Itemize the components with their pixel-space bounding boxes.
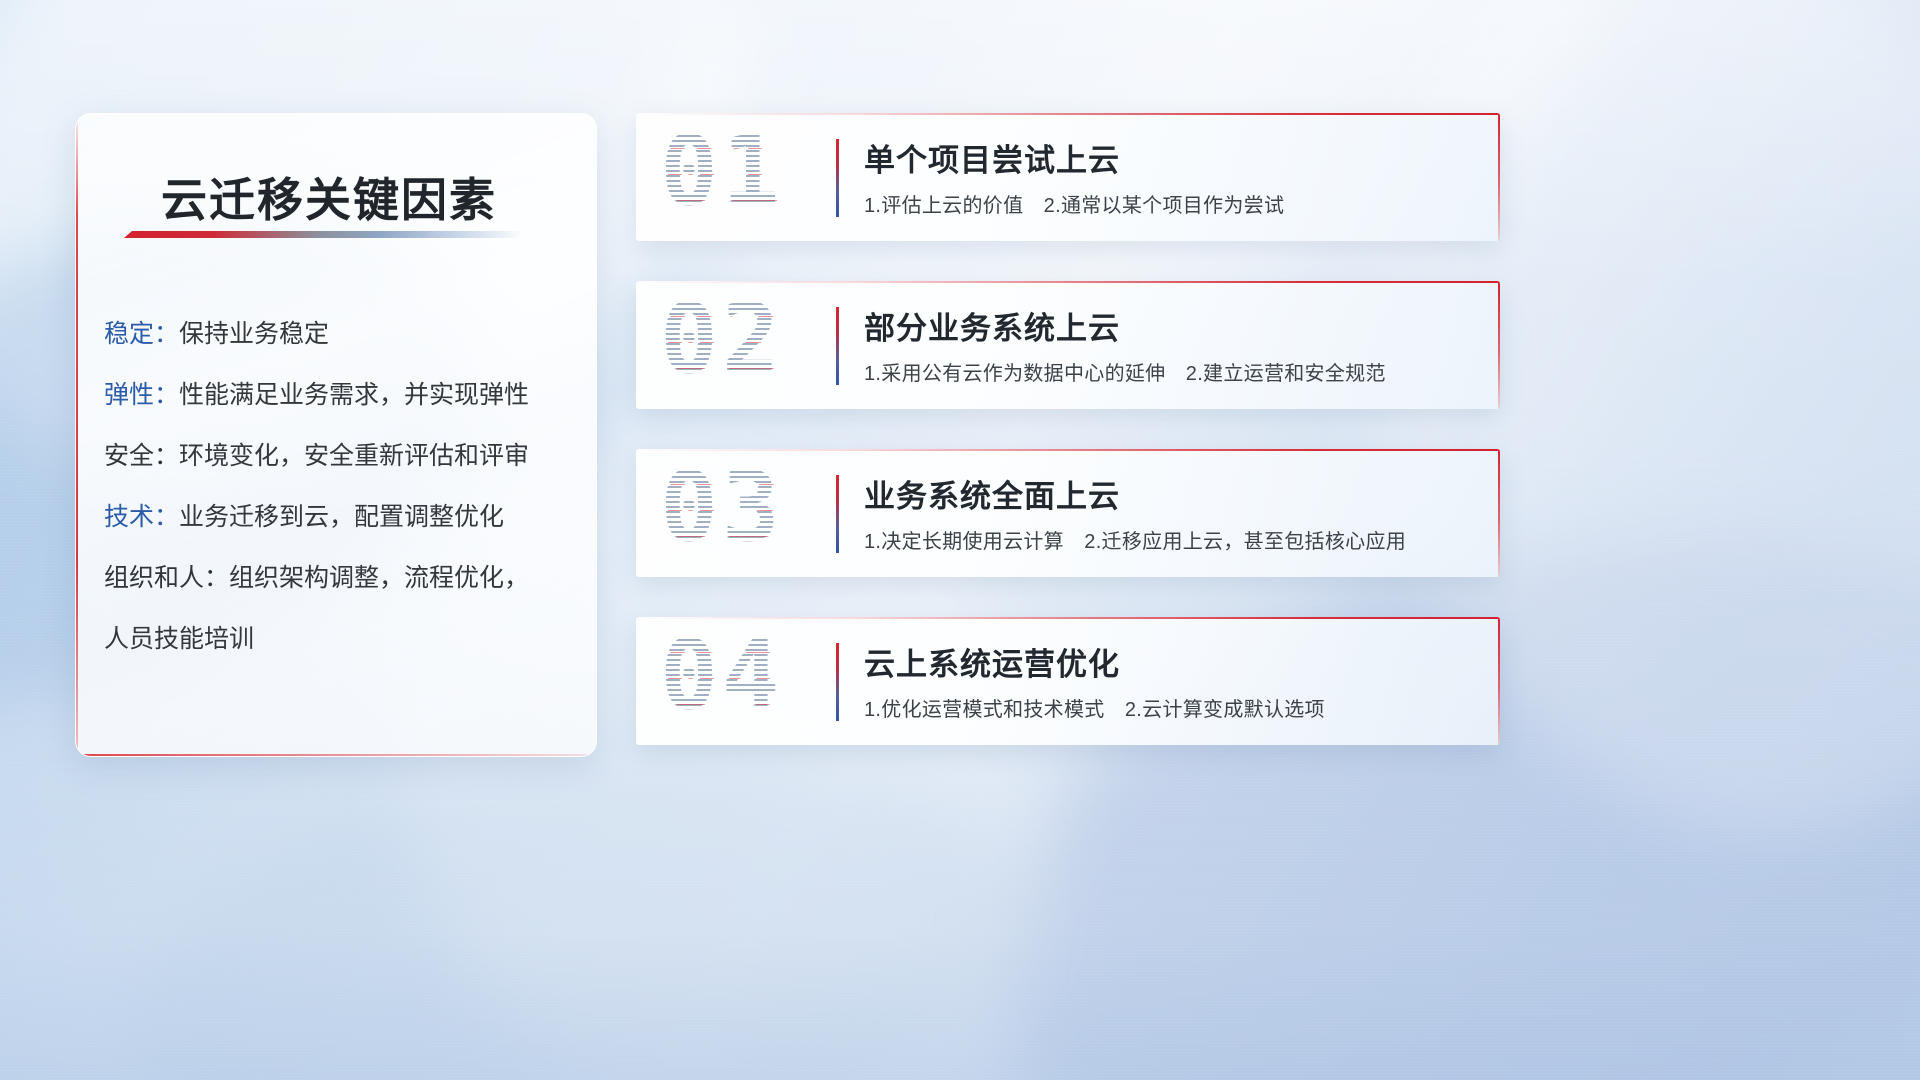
card-right-accent [1498,113,1500,241]
stage-body: 1.优化运营模式和技术模式 2.云计算变成默认选项 [864,693,1325,722]
card-right-accent [1498,449,1500,577]
stage-body: 1.采用公有云作为数据中心的延伸 2.建立运营和安全规范 [864,357,1386,386]
factor-value: 性能满足业务需求，并实现弹性 [179,381,529,409]
factor-key: 组织和人： [104,564,229,592]
factor-value: 业务迁移到云，配置调整优化 [179,503,504,531]
card-top-accent [636,113,1500,115]
panel-left-accent-bar [76,114,78,756]
stage-body: 1.评估上云的价值 2.通常以某个项目作为尝试 [864,189,1284,218]
key-factors-list: 稳定：保持业务稳定 弹性：性能满足业务需求，并实现弹性 安全：环境变化，安全重新… [104,304,574,670]
stage-card[interactable]: 01 01 单个项目尝试上云 1.评估上云的价值 2.通常以某个项目作为尝试 [636,113,1500,241]
factor-key: 技术： [104,503,179,531]
card-top-accent [636,617,1500,619]
list-item: 组织和人：组织架构调整，流程优化， [104,548,574,609]
key-factors-panel: 云迁移关键因素 稳定：保持业务稳定 弹性：性能满足业务需求，并实现弹性 安全：环… [75,113,597,757]
stage-number-watermark: 04 04 [660,629,850,733]
factor-key: 安全： [104,442,179,470]
factor-key: 弹性： [104,381,179,409]
stage-number-watermark: 01 01 [660,125,850,229]
card-divider-bar [836,307,839,385]
list-item: 弹性：性能满足业务需求，并实现弹性 [104,365,574,426]
factor-value: 保持业务稳定 [179,320,329,348]
panel-bottom-accent-bar [76,754,596,756]
stage-body: 1.决定长期使用云计算 2.迁移应用上云，甚至包括核心应用 [864,525,1406,554]
stage-title: 云上系统运营优化 [864,639,1120,684]
card-divider-bar [836,643,839,721]
factor-value: 环境变化，安全重新评估和评审 [179,442,529,470]
list-item: 稳定：保持业务稳定 [104,304,574,365]
stage-number-watermark: 02 02 [660,293,850,397]
stage-card[interactable]: 04 04 云上系统运营优化 1.优化运营模式和技术模式 2.云计算变成默认选项 [636,617,1500,745]
stage-number-red-overlay: 03 [662,461,786,563]
card-right-accent [1498,617,1500,745]
card-top-accent [636,449,1500,451]
factor-key: 稳定： [104,320,179,348]
stage-title: 单个项目尝试上云 [864,135,1120,180]
card-divider-bar [836,139,839,217]
factor-value: 组织架构调整，流程优化， [229,564,529,592]
list-item: 安全：环境变化，安全重新评估和评审 [104,426,574,487]
stage-card[interactable]: 03 03 业务系统全面上云 1.决定长期使用云计算 2.迁移应用上云，甚至包括… [636,449,1500,577]
stage-card-list: 01 01 单个项目尝试上云 1.评估上云的价值 2.通常以某个项目作为尝试 0… [636,113,1500,785]
stage-number-red-overlay: 02 [662,293,786,395]
stage-number-red-overlay: 01 [662,125,786,227]
card-right-accent [1498,281,1500,409]
stage-number-watermark: 03 03 [660,461,850,565]
card-top-accent [636,281,1500,283]
stage-title: 业务系统全面上云 [864,471,1120,516]
stage-title: 部分业务系统上云 [864,303,1120,348]
list-item-continuation: 人员技能培训 [104,609,574,670]
card-divider-bar [836,475,839,553]
stage-number-red-overlay: 04 [662,629,786,731]
list-item: 技术：业务迁移到云，配置调整优化 [104,487,574,548]
title-underline-gradient [124,231,524,238]
page-title: 云迁移关键因素 [161,164,497,230]
stage-card[interactable]: 02 02 部分业务系统上云 1.采用公有云作为数据中心的延伸 2.建立运营和安… [636,281,1500,409]
